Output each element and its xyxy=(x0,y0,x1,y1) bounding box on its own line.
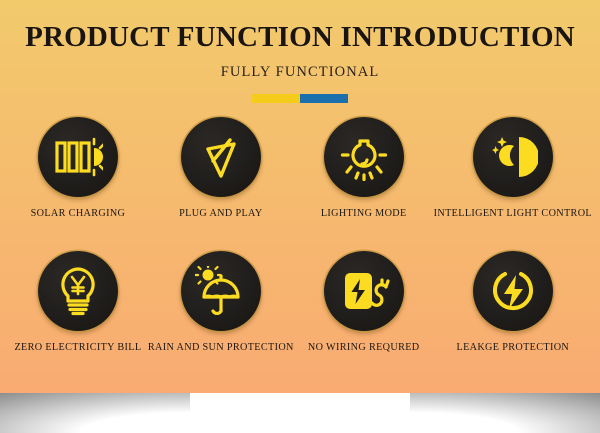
feature-grid: SOLAR CHARGING PLUG AND PLAY xyxy=(0,117,600,385)
feature-item-plug-and-play[interactable]: PLUG AND PLAY xyxy=(148,117,294,251)
title-divider xyxy=(252,94,348,103)
divider-segment-yellow xyxy=(252,94,300,103)
shadow-corner-left xyxy=(0,388,190,433)
feature-label: RAIN AND SUN PROTECTION xyxy=(148,342,294,353)
feature-label: ZERO ELECTRICITY BILL xyxy=(14,342,141,353)
poster-panel: PRODUCT FUNCTION INTRODUCTION FULLY FUNC… xyxy=(0,0,600,393)
feature-label: LEAKGE PROTECTION xyxy=(457,342,570,353)
feature-item-zero-electricity-bill[interactable]: ZERO ELECTRICITY BILL xyxy=(8,251,148,385)
light-bulb-rays-icon xyxy=(340,133,388,181)
feature-item-solar-charging[interactable]: SOLAR CHARGING xyxy=(8,117,148,251)
feature-icon-badge xyxy=(181,251,261,331)
feature-icon-badge xyxy=(473,251,553,331)
bulb-yen-icon xyxy=(56,266,100,316)
feature-label: PLUG AND PLAY xyxy=(179,208,262,219)
feature-label: LIGHTING MODE xyxy=(321,208,407,219)
feature-icon-badge xyxy=(38,251,118,331)
feature-icon-badge xyxy=(181,117,261,197)
plug-arrow-icon xyxy=(197,133,245,181)
feature-label: NO WIRING REQURED xyxy=(308,342,420,353)
feature-icon-badge xyxy=(324,251,404,331)
battery-bolt-plug-icon xyxy=(338,267,390,315)
solar-panel-sun-icon xyxy=(53,134,103,180)
divider-segment-blue xyxy=(300,94,348,103)
feature-item-rain-and-sun-protection[interactable]: RAIN AND SUN PROTECTION xyxy=(148,251,294,385)
bolt-shield-circle-icon xyxy=(489,267,537,315)
page-title: PRODUCT FUNCTION INTRODUCTION xyxy=(0,0,600,52)
feature-icon-badge xyxy=(473,117,553,197)
feature-item-leakage-protection[interactable]: LEAKGE PROTECTION xyxy=(434,251,592,385)
feature-label: INTELLIGENT LIGHT CONTROL xyxy=(434,208,592,219)
umbrella-sun-icon xyxy=(195,266,247,316)
feature-item-lighting-mode[interactable]: LIGHTING MODE xyxy=(294,117,434,251)
shadow-corner-right xyxy=(410,388,600,433)
feature-label: SOLAR CHARGING xyxy=(31,208,126,219)
feature-icon-badge xyxy=(38,117,118,197)
feature-icon-badge xyxy=(324,117,404,197)
page-subtitle: FULLY FUNCTIONAL xyxy=(0,52,600,81)
feature-item-no-wiring-required[interactable]: NO WIRING REQURED xyxy=(294,251,434,385)
moon-stars-half-circle-icon xyxy=(488,133,538,181)
feature-item-intelligent-light-control[interactable]: INTELLIGENT LIGHT CONTROL xyxy=(434,117,592,251)
